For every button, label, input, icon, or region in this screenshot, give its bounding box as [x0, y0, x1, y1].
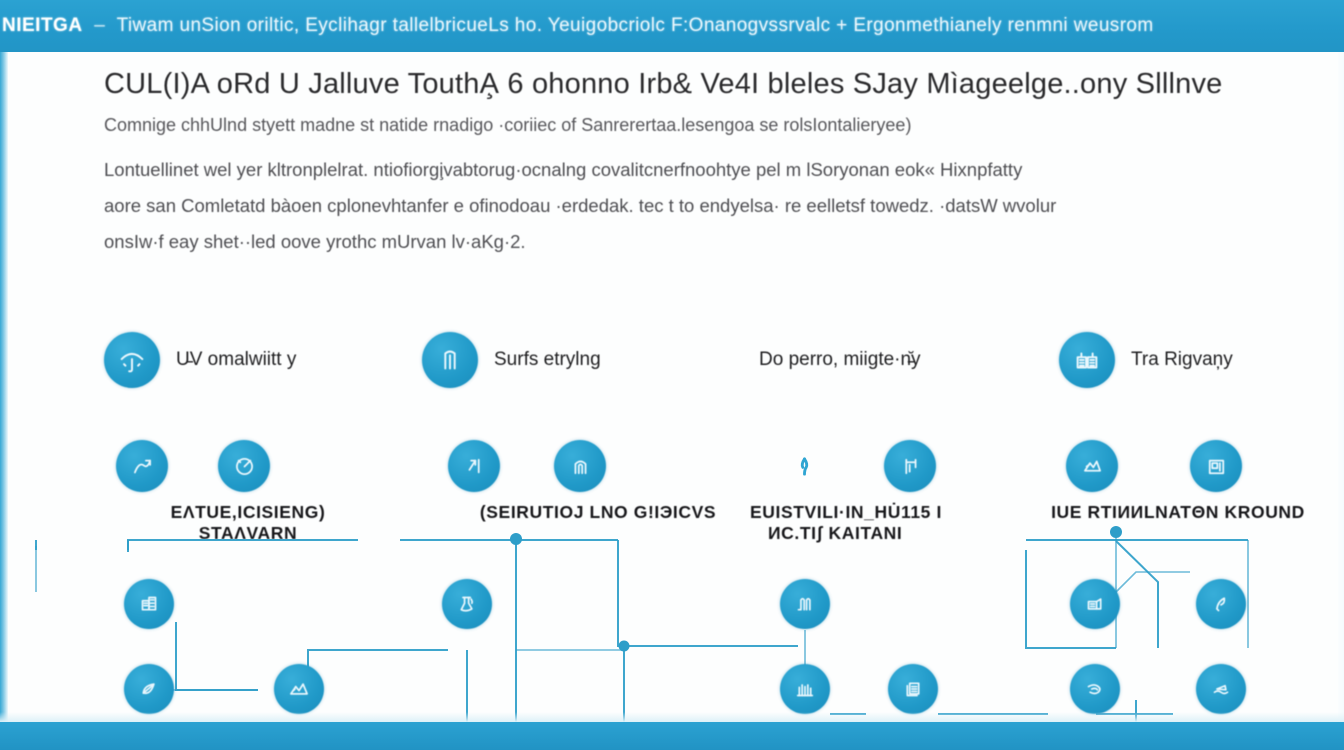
forest-icon[interactable]	[780, 664, 830, 714]
group-label-line1: IUE RTIИИLNATΘN KROUND	[1051, 502, 1305, 522]
wire-peaks-up	[308, 650, 448, 690]
group-label-line2: ИC.TIʃ KAITANI	[750, 523, 1080, 544]
group-label-line1: EΛTUE,ICISIENG)	[171, 502, 326, 522]
peaks-icon[interactable]	[274, 664, 324, 714]
plant-sprout-icon[interactable]	[1196, 579, 1246, 629]
category-label: U̵V omalwiitt y	[176, 349, 296, 371]
bracket-frame-icon[interactable]	[884, 440, 936, 492]
header-brand: NIEITGA	[2, 15, 83, 36]
wire-junction-dot-3	[1110, 526, 1122, 538]
footer-sheen	[0, 712, 1344, 722]
panel-box-icon[interactable]	[1190, 440, 1242, 492]
category-label: Do perro, miigte·n̵̆y	[759, 349, 921, 371]
pillars-pair-icon[interactable]	[780, 579, 830, 629]
factory-icon	[1059, 332, 1115, 388]
wind-swirl-icon[interactable]	[1070, 664, 1120, 714]
category-label: Tra Rigvan̦y	[1131, 349, 1233, 371]
group-label-4: IUE RTIИИLNATΘN KROUND	[1018, 502, 1338, 523]
app-header-bar: NIEITGA – Tiwam unSion oriltic, Eyclihag…	[0, 0, 1344, 52]
category-label: Surfs etrylng	[494, 349, 601, 371]
column-icon	[422, 332, 478, 388]
header-text-line: NIEITGA – Tiwam unSion oriltic, Eyclihag…	[0, 15, 1154, 37]
waves-boat-icon[interactable]	[1196, 664, 1246, 714]
body-paragraph-line-2: aore san Comletatd bàoen cplonevhtanfer …	[104, 188, 1274, 224]
header-subtitle-text: Tiwam unSion oriltic, Eyclihagr tallelbr…	[117, 15, 1154, 36]
arch-gate-icon[interactable]	[554, 440, 606, 492]
body-paragraph-line-1: Lontuellinet wel yer kltronplelrat. ntio…	[104, 152, 1274, 188]
category-item-traregional[interactable]: Tra Rigvan̦y	[1059, 332, 1233, 388]
group-label-line2: STAΛVARN	[104, 523, 392, 544]
group-label-2: (SEIRUTIOJ LNO G!IЭICVS	[418, 502, 778, 523]
city-block-icon[interactable]	[1070, 579, 1120, 629]
category-item-surfacing[interactable]: Surfs etrylng	[422, 332, 601, 388]
document-page: NIEITGA – Tiwam unSion oriltic, Eyclihag…	[0, 0, 1344, 750]
wire-junction-dot-2	[619, 641, 630, 652]
body-copy: Lontuellinet wel yer kltronplelrat. ntio…	[104, 152, 1274, 260]
umbrella-icon	[104, 332, 160, 388]
building-stack-icon[interactable]	[124, 579, 174, 629]
page-right-edge	[1338, 52, 1344, 722]
page-title: CUL(I)A oRd U Jalluve TouthA̧ 6 ohonno I…	[104, 64, 1284, 104]
body-paragraph-line-3: onsIw·f eay shet··led oove yrothc mUrvan…	[104, 224, 1274, 260]
arrow-up-icon[interactable]	[448, 440, 500, 492]
leaf-drop-icon[interactable]	[124, 664, 174, 714]
documents-icon[interactable]	[888, 664, 938, 714]
page-left-edge	[0, 52, 8, 722]
gauge-dial-icon[interactable]	[218, 440, 270, 492]
mountain-route-icon[interactable]	[1066, 440, 1118, 492]
group-label-line1: (SEIRUTIOJ LNO G!IЭICVS	[480, 502, 716, 522]
trend-arrow-icon[interactable]	[116, 440, 168, 492]
wire-to-group3	[618, 540, 798, 646]
app-footer-bar	[0, 722, 1344, 750]
category-item-deperro[interactable]: Do perro, miigte·n̵̆y	[759, 332, 921, 388]
droplet-pin-icon[interactable]	[778, 440, 830, 492]
wire-junction-dot-1	[510, 533, 522, 545]
wire-building-to-peaks	[176, 622, 258, 690]
wire-group4-diag	[1116, 541, 1158, 648]
group-label-1: EΛTUE,ICISIENG) STAΛVARN	[104, 502, 392, 544]
wire-group4-branch	[1116, 572, 1190, 592]
header-separator: –	[88, 15, 111, 36]
category-strip: U̵V omalwiitt y Surfs etrylng Do perro, …	[104, 332, 1294, 402]
group-label-line1: EUISTVILI·IN_HU̇115 I	[750, 502, 942, 522]
page-subtitle: Comnige chhUlnd styett madne st natide r…	[104, 112, 1284, 138]
document-canvas: CUL(I)A oRd U Jalluve TouthA̧ 6 ohonno I…	[8, 52, 1338, 722]
category-item-uv[interactable]: U̵V omalwiitt y	[104, 332, 296, 388]
water-flask-icon[interactable]	[442, 579, 492, 629]
